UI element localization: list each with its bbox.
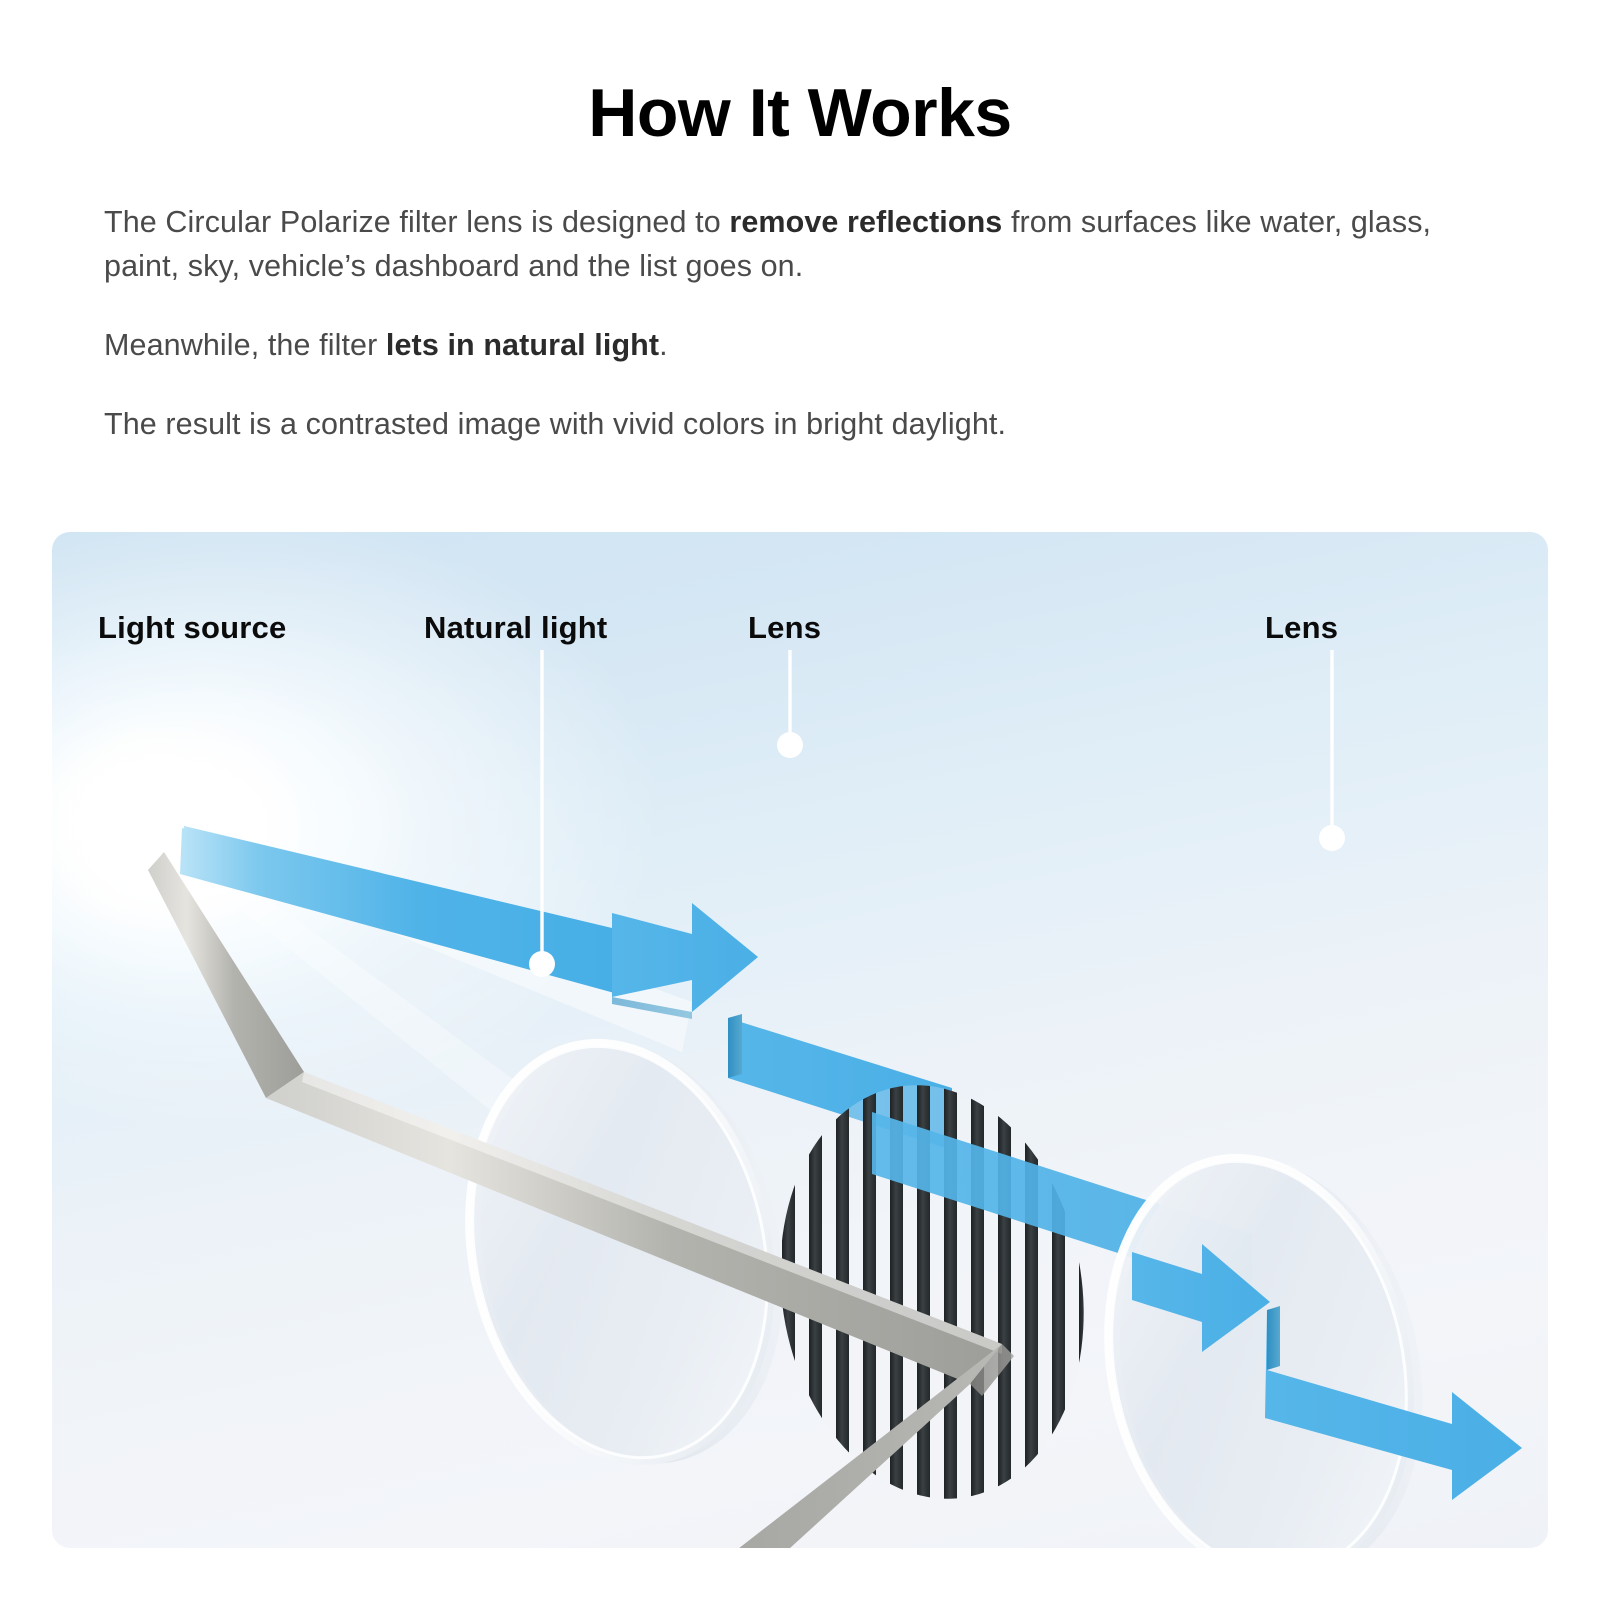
label-lens-front: Lens <box>748 610 821 646</box>
body-copy: The Circular Polarize filter lens is des… <box>0 201 1600 446</box>
paragraph-1-emphasis: remove reflections <box>729 205 1002 239</box>
paragraph-2-text-a: Meanwhile, the filter <box>104 328 386 362</box>
paragraph-3-text: The result is a contrasted image with vi… <box>104 407 1006 441</box>
paragraph-2-text-b: . <box>659 328 668 362</box>
paragraph-1: The Circular Polarize filter lens is des… <box>104 201 1496 288</box>
paragraph-1-text-a: The Circular Polarize filter lens is des… <box>104 205 729 239</box>
polarization-diagram <box>52 532 1548 1548</box>
leader-dot-natural-light <box>529 951 555 977</box>
leader-dot-lens-1 <box>777 732 803 758</box>
label-natural-light: Natural light <box>424 610 607 646</box>
paragraph-3: The result is a contrasted image with vi… <box>104 403 1496 446</box>
diagram-panel: Light source Natural light Lens Lens Lig… <box>52 532 1548 1548</box>
label-light-source: Light source <box>98 610 286 646</box>
label-lens-back: Lens <box>1265 610 1338 646</box>
lens-back <box>1070 1129 1460 1548</box>
page-title: How It Works <box>0 0 1600 149</box>
paragraph-2-emphasis: lets in natural light <box>386 328 659 362</box>
paragraph-2: Meanwhile, the filter lets in natural li… <box>104 324 1496 367</box>
leader-dot-lens-2 <box>1319 825 1345 851</box>
